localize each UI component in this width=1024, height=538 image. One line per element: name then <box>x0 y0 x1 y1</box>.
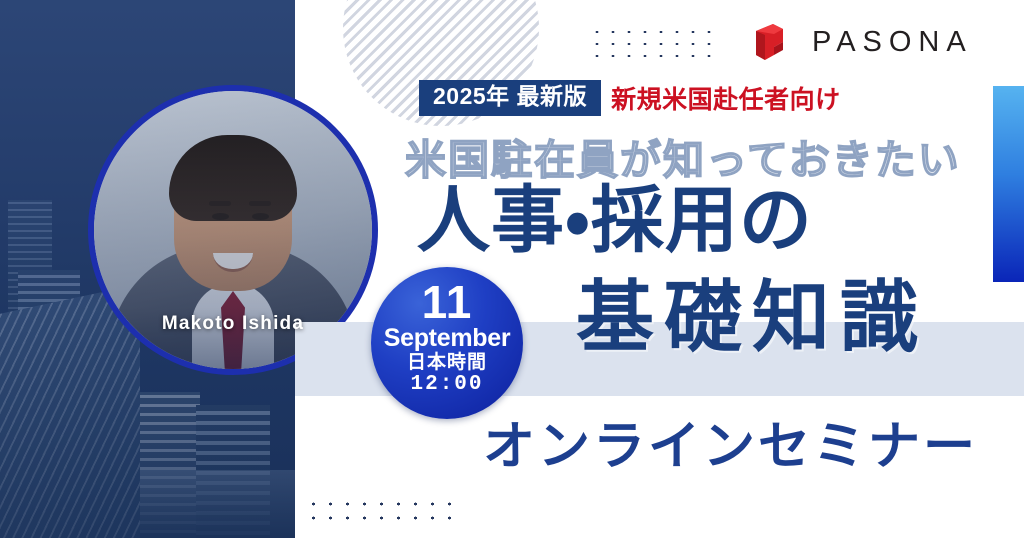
date-time: 12:00 <box>371 374 523 396</box>
headline-line-1: 人事・採用の <box>417 184 813 257</box>
date-badge: 11 September 日本時間 12:00 <box>371 267 523 419</box>
date-timezone-label: 日本時間 <box>371 352 523 374</box>
year-badge: 2025年 最新版 <box>419 80 601 115</box>
headline-line-2: 基礎知識 <box>576 278 928 356</box>
content-area: 2025年 最新版 新規米国赴任者向け 米国駐在員が知っておきたい 人事・採用の… <box>295 0 1024 538</box>
badge-row: 2025年 最新版 新規米国赴任者向け <box>419 80 841 116</box>
dot-grid-bottom-decor-icon <box>305 497 457 521</box>
audience-label: 新規米国赴任者向け <box>611 80 841 116</box>
date-day: 11 <box>371 279 523 325</box>
headline-kicker: 米国駐在員が知っておきたい <box>405 126 961 186</box>
speaker-name: Makoto Ishida <box>88 313 378 335</box>
seminar-format-label: オンラインセミナー <box>483 421 978 473</box>
seminar-banner: Makoto Ishida PASONA 2025年 最新版 新規米国赴任者向け… <box>0 0 1024 538</box>
date-month: September <box>371 325 523 351</box>
